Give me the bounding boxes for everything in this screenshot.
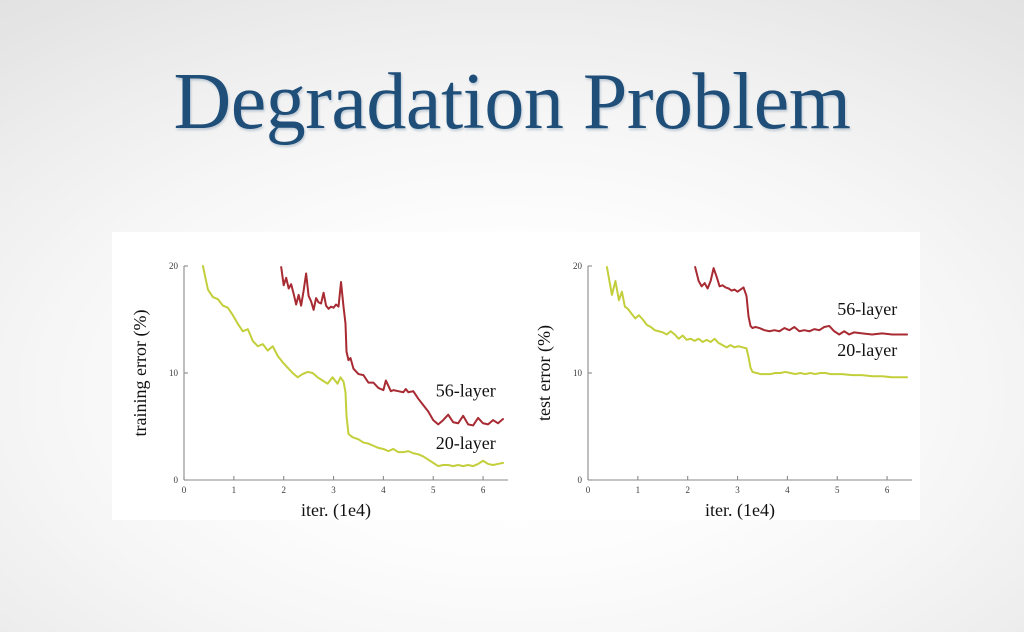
slide-root: Degradation Problem 010200123456iter. (1… xyxy=(0,0,1024,632)
y-axis-title: training error (%) xyxy=(130,310,151,437)
x-tick-label: 3 xyxy=(331,485,336,495)
x-tick-label: 5 xyxy=(431,485,436,495)
y-tick-label: 10 xyxy=(573,368,583,378)
page-title: Degradation Problem xyxy=(0,62,1024,142)
x-tick-label: 1 xyxy=(232,485,237,495)
y-tick-label: 10 xyxy=(169,368,179,378)
x-tick-label: 2 xyxy=(685,485,690,495)
x-tick-label: 0 xyxy=(182,485,187,495)
figure-panel: 010200123456iter. (1e4)training error (%… xyxy=(112,232,920,520)
x-tick-label: 6 xyxy=(481,485,486,495)
x-tick-label: 3 xyxy=(735,485,740,495)
x-tick-label: 2 xyxy=(281,485,286,495)
x-tick-label: 0 xyxy=(586,485,591,495)
x-axis-title: iter. (1e4) xyxy=(705,500,775,520)
y-tick-label: 20 xyxy=(573,261,583,271)
series-annotation: 20-layer xyxy=(436,433,496,453)
y-tick-label: 0 xyxy=(578,475,583,485)
test-error-plot: 010200123456iter. (1e4)test error (%)56-… xyxy=(516,232,920,520)
y-tick-label: 20 xyxy=(169,261,179,271)
series-annotation: 56-layer xyxy=(837,299,897,319)
y-tick-label: 0 xyxy=(174,475,179,485)
chart-training-error: 010200123456iter. (1e4)training error (%… xyxy=(112,232,516,520)
series-line-20-layer xyxy=(607,267,907,377)
series-annotation: 20-layer xyxy=(837,340,897,360)
series-line-56-layer xyxy=(281,267,503,425)
x-tick-label: 1 xyxy=(636,485,641,495)
x-tick-label: 6 xyxy=(885,485,890,495)
x-axis-title: iter. (1e4) xyxy=(301,500,371,520)
x-tick-label: 4 xyxy=(381,485,386,495)
series-annotation: 56-layer xyxy=(436,381,496,401)
chart-test-error: 010200123456iter. (1e4)test error (%)56-… xyxy=(516,232,920,520)
x-tick-label: 5 xyxy=(835,485,840,495)
y-axis-title: test error (%) xyxy=(534,325,555,421)
training-error-plot: 010200123456iter. (1e4)training error (%… xyxy=(112,232,516,520)
x-tick-label: 4 xyxy=(785,485,790,495)
